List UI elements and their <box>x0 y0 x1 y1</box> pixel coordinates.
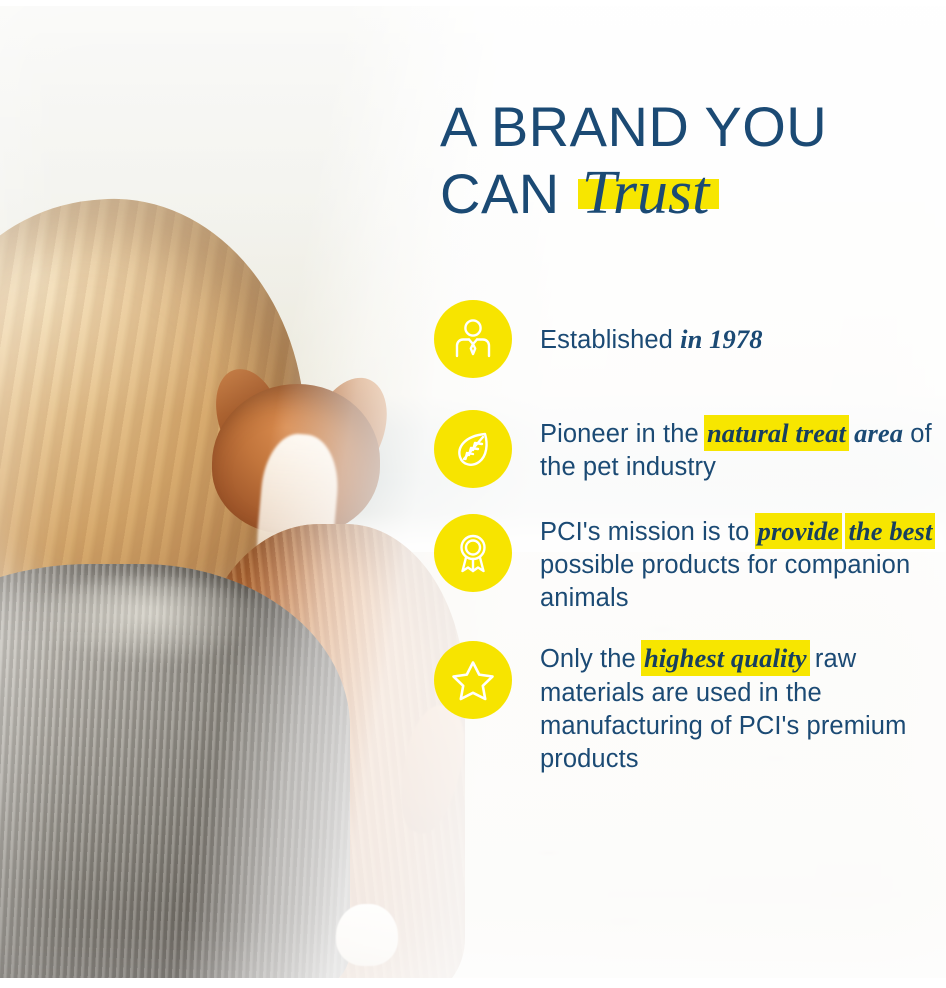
segment-highlight-2: the best <box>847 515 933 547</box>
promo-poster: A BRAND YOU CAN Trust Established in <box>0 0 946 988</box>
top-edge-rule <box>0 0 946 6</box>
list-item: Established in 1978 <box>434 300 939 378</box>
list-item: PCI's mission is to provide the best pos… <box>434 514 939 615</box>
list-item-text: Established in 1978 <box>540 300 939 357</box>
benefit-list: Established in 1978 Pioneer in the natur… <box>434 300 939 776</box>
star-icon <box>434 641 512 719</box>
list-item-text: PCI's mission is to provide the best pos… <box>540 514 939 615</box>
page-title: A BRAND YOU CAN Trust <box>440 96 940 228</box>
segment-plain-tail: possible products for companion animals <box>540 551 910 612</box>
headline-script-word: Trust <box>576 159 716 227</box>
leaf-icon <box>434 410 512 488</box>
segment-plain: PCI's mission is to <box>540 518 757 546</box>
headline-line-1: A BRAND YOU <box>440 96 940 159</box>
segment-plain: Only the <box>540 645 643 673</box>
bottom-edge-rule <box>0 978 946 988</box>
award-ribbon-icon <box>434 514 512 592</box>
list-item: Only the highest quality raw materials a… <box>434 641 939 776</box>
segment-highlight: natural treat <box>706 417 847 449</box>
headline-line-2: CAN Trust <box>440 159 940 228</box>
segment-emphasis: in 1978 <box>680 324 762 354</box>
list-item-text: Pioneer in the natural treat area of the… <box>540 410 939 484</box>
headline-line-2-prefix: CAN <box>440 162 560 225</box>
segment-plain: Pioneer in the <box>540 420 706 448</box>
segment-highlight: provide <box>757 515 841 547</box>
list-item-text: Only the highest quality raw materials a… <box>540 641 939 776</box>
segment-emphasis: area <box>854 418 903 448</box>
segment-plain: Established <box>540 326 680 354</box>
list-item: Pioneer in the natural treat area of the… <box>434 410 939 488</box>
segment-highlight: highest quality <box>643 642 808 674</box>
person-with-tie-icon <box>434 300 512 378</box>
